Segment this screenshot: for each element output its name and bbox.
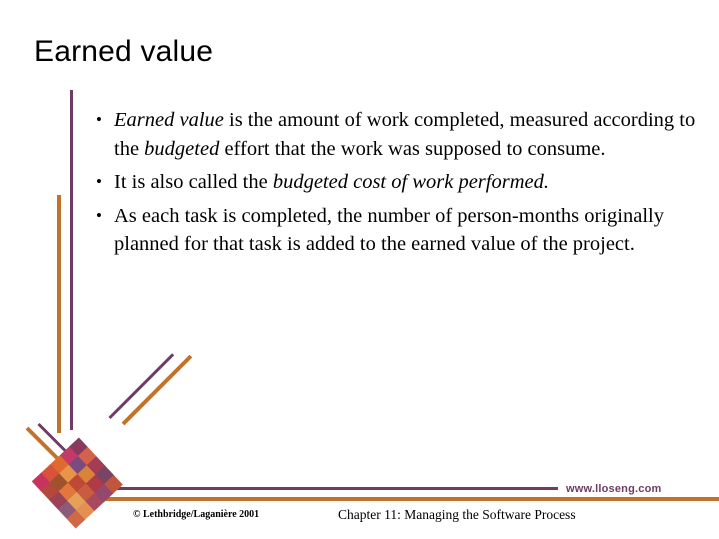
emphasis-run: budgeted: [144, 138, 219, 160]
footer-chapter-label: Chapter 11: Managing the Software Proces…: [338, 507, 576, 523]
bullet-marker-icon: •: [96, 106, 102, 135]
text-run: It is also called the: [114, 171, 273, 193]
accent-rule-purple-vertical: [70, 90, 73, 430]
accent-rule-orange-horizontal: [95, 497, 719, 501]
bullet-item: •It is also called the budgeted cost of …: [96, 168, 708, 197]
bullet-item: •As each task is completed, the number o…: [96, 202, 708, 259]
accent-rule-orange-vertical: [57, 195, 61, 433]
quilt-diamond-logo: [31, 437, 123, 529]
bullet-list: •Earned value is the amount of work comp…: [96, 106, 708, 264]
footer-website-url[interactable]: www.lloseng.com: [566, 483, 662, 495]
bullet-text: As each task is completed, the number of…: [114, 205, 664, 256]
bullet-marker-icon: •: [96, 168, 102, 197]
accent-rule-orange-diagonal-right: [122, 355, 193, 426]
bullet-text: Earned value is the amount of work compl…: [114, 109, 695, 160]
bullet-text: It is also called the budgeted cost of w…: [114, 171, 549, 193]
bullet-item: •Earned value is the amount of work comp…: [96, 106, 708, 163]
footer-copyright: © Lethbridge/Laganière 2001: [133, 509, 259, 520]
emphasis-run: budgeted cost of work performed.: [273, 171, 549, 193]
accent-rule-purple-horizontal: [105, 487, 558, 490]
bullet-marker-icon: •: [96, 202, 102, 231]
text-run: As each task is completed, the number of…: [114, 205, 664, 256]
emphasis-run: Earned value: [114, 109, 224, 131]
slide-canvas: Earned value •Earned value is the amount…: [0, 0, 719, 539]
page-title: Earned value: [34, 35, 213, 69]
text-run: effort that the work was supposed to con…: [219, 138, 605, 160]
accent-rule-purple-diagonal-right: [108, 353, 174, 419]
